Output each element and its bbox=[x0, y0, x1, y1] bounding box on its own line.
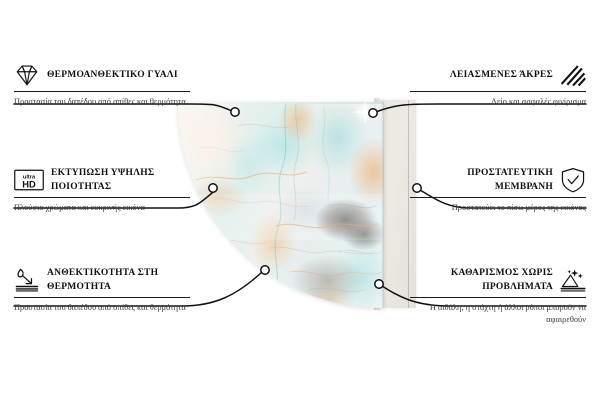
marble-veins bbox=[178, 102, 384, 308]
feature-divider bbox=[14, 91, 190, 92]
feature-header: ΠΡΟΣΤΑΤΕΥΤΙΚΗ ΜΕΜΒΡΑΝΗ bbox=[410, 166, 586, 194]
feature-divider bbox=[14, 197, 190, 198]
feature-divider bbox=[410, 197, 586, 198]
feature-high-quality-print: ultra HD ΕΚΤΥΠΩΣΗ ΥΨΗΛΗΣ ΠΟΙΟΤΗΤΑΣ Πλούσ… bbox=[14, 166, 190, 214]
product-image bbox=[178, 96, 418, 318]
feature-divider bbox=[410, 91, 586, 92]
feature-description: Λείο και ασφαλές φινίρισμα bbox=[410, 96, 586, 108]
feature-title: ΚΑΘΑΡΙΣΜΟΣ ΧΩΡΙΣ ΠΡΟΒΛΗΜΑΤΑ bbox=[410, 266, 553, 294]
feature-header: ΛΕΙΑΣΜΕΝΕΣ ΆΚΡΕΣ bbox=[410, 62, 586, 88]
flame-arrow-icon bbox=[14, 267, 40, 293]
glass-panel bbox=[178, 102, 384, 308]
feature-heat-resistant-glass: ΘΕΡΜΟΑΝΘΕΚΤΙΚΟ ΓΥΑΛΙ Προστασία του δαπέδ… bbox=[14, 62, 190, 108]
shield-check-icon bbox=[560, 167, 586, 193]
feature-description: Προστατεύει το πίσω μέρος της εικόνας bbox=[410, 202, 586, 214]
feature-header: ultra HD ΕΚΤΥΠΩΣΗ ΥΨΗΛΗΣ ΠΟΙΟΤΗΤΑΣ bbox=[14, 166, 190, 194]
feature-title: ΠΡΟΣΤΑΤΕΥΤΙΚΗ ΜΕΜΒΡΑΝΗ bbox=[410, 166, 553, 194]
feature-title: ΑΝΘΕΚΤΙΚΟΤΗΤΑ ΣΤΗ ΘΕΡΜΟΤΗΤΑ bbox=[47, 266, 190, 294]
feature-title: ΘΕΡΜΟΑΝΘΕΚΤΙΚΟ ΓΥΑΛΙ bbox=[47, 68, 178, 82]
feature-protective-membrane: ΠΡΟΣΤΑΤΕΥΤΙΚΗ ΜΕΜΒΡΑΝΗ Προστατεύει το πί… bbox=[410, 166, 586, 214]
feature-divider bbox=[14, 297, 190, 298]
diagonal-stripes-icon bbox=[560, 62, 586, 88]
feature-trouble-free-cleaning: ΚΑΘΑΡΙΣΜΟΣ ΧΩΡΙΣ ΠΡΟΒΛΗΜΑΤΑ Η αιθάλη, η … bbox=[410, 266, 586, 325]
glass-right-edge bbox=[381, 102, 384, 308]
sparkle-clean-icon bbox=[560, 267, 586, 293]
infographic-stage: ΘΕΡΜΟΑΝΘΕΚΤΙΚΟ ΓΥΑΛΙ Προστασία του δαπέδ… bbox=[0, 0, 600, 400]
ultra-hd-icon: ultra HD bbox=[14, 169, 44, 191]
feature-title: ΕΚΤΥΠΩΣΗ ΥΨΗΛΗΣ ΠΟΙΟΤΗΤΑΣ bbox=[51, 166, 190, 194]
feature-title: ΛΕΙΑΣΜΕΝΕΣ ΆΚΡΕΣ bbox=[450, 68, 553, 82]
glass-top-edge bbox=[178, 102, 384, 104]
feature-header: ΚΑΘΑΡΙΣΜΟΣ ΧΩΡΙΣ ΠΡΟΒΛΗΜΑΤΑ bbox=[410, 266, 586, 294]
feature-header: ΑΝΘΕΚΤΙΚΟΤΗΤΑ ΣΤΗ ΘΕΡΜΟΤΗΤΑ bbox=[14, 266, 190, 294]
feature-header: ΘΕΡΜΟΑΝΘΕΚΤΙΚΟ ΓΥΑΛΙ bbox=[14, 62, 190, 88]
feature-description: Προστασία του δαπέδου από σπίθες και θερ… bbox=[14, 96, 190, 108]
feature-description: Προστασία του δαπέδου από σπίθες και θερ… bbox=[14, 302, 190, 314]
feature-smoothed-edges: ΛΕΙΑΣΜΕΝΕΣ ΆΚΡΕΣ Λείο και ασφαλές φινίρι… bbox=[410, 62, 586, 108]
feature-divider bbox=[410, 297, 586, 298]
svg-text:HD: HD bbox=[22, 180, 36, 190]
feature-heat-durability: ΑΝΘΕΚΤΙΚΟΤΗΤΑ ΣΤΗ ΘΕΡΜΟΤΗΤΑ Προστασία το… bbox=[14, 266, 190, 314]
feature-description: Πλούσια χρώματα και ευκρινής εικόνα bbox=[14, 202, 190, 214]
feature-description: Η αιθάλη, η στάχτη ή άλλοι ρύποι μπορούν… bbox=[410, 302, 586, 325]
diamond-icon bbox=[14, 62, 40, 88]
